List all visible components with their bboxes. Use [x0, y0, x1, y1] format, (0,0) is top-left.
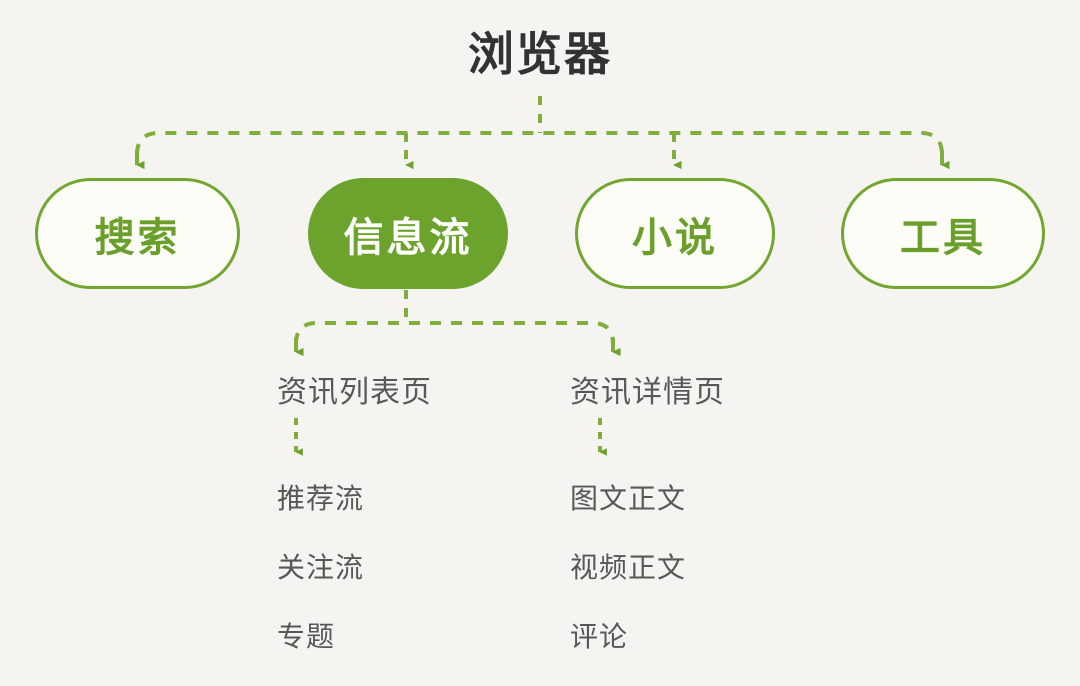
node-tools[interactable]: 工具 [841, 178, 1045, 289]
node-news-detail-page[interactable]: 资讯详情页 [570, 367, 725, 411]
leaf-comments[interactable]: 评论 [570, 615, 628, 655]
leaf-image-text-body[interactable]: 图文正文 [570, 477, 686, 517]
diagram-canvas: 浏览器 搜索 信息流 [0, 0, 1080, 686]
node-novel-label: 小说 [632, 205, 718, 263]
node-search[interactable]: 搜索 [35, 178, 240, 289]
leaf-recommend-flow[interactable]: 推荐流 [277, 477, 364, 517]
node-information-flow-label: 信息流 [344, 205, 473, 263]
node-tools-label: 工具 [900, 205, 986, 263]
connector-lines [0, 0, 1080, 686]
node-search-label: 搜索 [95, 205, 181, 263]
node-novel[interactable]: 小说 [575, 178, 775, 289]
connector-level1-bus [137, 133, 942, 155]
leaf-follow-flow[interactable]: 关注流 [277, 546, 364, 586]
leaf-video-body[interactable]: 视频正文 [570, 546, 686, 586]
leaf-topic[interactable]: 专题 [277, 615, 335, 655]
node-information-flow[interactable]: 信息流 [308, 178, 508, 289]
connector-level2-bus [296, 323, 613, 344]
root-node-browser: 浏览器 [0, 26, 1080, 82]
node-news-list-page[interactable]: 资讯列表页 [277, 367, 432, 411]
